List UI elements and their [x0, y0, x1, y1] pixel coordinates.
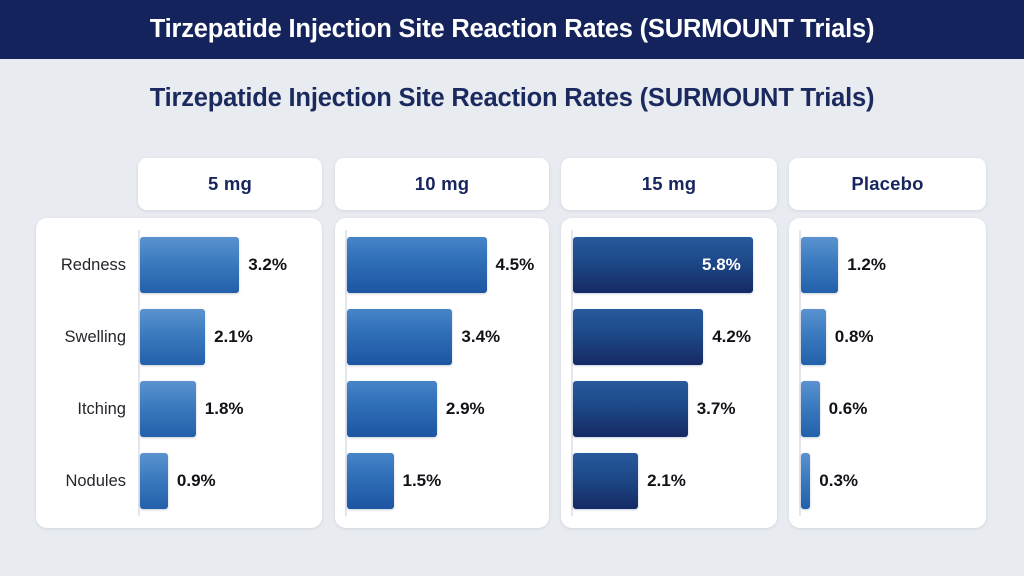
- category-label-redness: Redness: [61, 237, 126, 293]
- page-title: Tirzepatide Injection Site Reaction Rate…: [0, 84, 1024, 113]
- bar-value-0-2: 1.8%: [205, 399, 244, 419]
- column-header-label-3: Placebo: [851, 173, 923, 195]
- bar-row: 0.3%: [801, 453, 986, 509]
- bar-0-2: [140, 381, 196, 437]
- bar-row: 0.6%: [801, 381, 986, 437]
- chart-panel-1: 4.5% 3.4% 2.9% 1.5%: [335, 218, 549, 528]
- bar-row: 3.4%: [347, 309, 549, 365]
- chart-panel-0: Redness Swelling Itching Nodules 3.2% 2.…: [36, 218, 322, 528]
- bar-1-1: [347, 309, 452, 365]
- bar-value-2-0: 5.8%: [702, 255, 741, 275]
- banner-title: Tirzepatide Injection Site Reaction Rate…: [150, 15, 875, 44]
- bar-value-1-2: 2.9%: [446, 399, 485, 419]
- column-header-card-0: 5 mg: [138, 158, 322, 210]
- bar-value-3-3: 0.3%: [819, 471, 858, 491]
- bar-row: 1.5%: [347, 453, 549, 509]
- category-label-itching: Itching: [77, 381, 126, 437]
- bar-row: 1.8%: [140, 381, 322, 437]
- bar-row: 2.1%: [573, 453, 777, 509]
- chart-panel-2: 5.8% 4.2% 3.7% 2.1%: [561, 218, 777, 528]
- top-banner: Tirzepatide Injection Site Reaction Rate…: [0, 0, 1024, 59]
- bar-value-3-2: 0.6%: [829, 399, 868, 419]
- bar-3-3: [801, 453, 810, 509]
- bar-value-1-3: 1.5%: [403, 471, 442, 491]
- bar-row: 5.8%: [573, 237, 777, 293]
- bar-row: 3.7%: [573, 381, 777, 437]
- plot-area-1: 4.5% 3.4% 2.9% 1.5%: [347, 218, 549, 528]
- column-header-card-2: 15 mg: [561, 158, 777, 210]
- bar-3-0: [801, 237, 838, 293]
- bar-value-2-3: 2.1%: [647, 471, 686, 491]
- bar-value-2-1: 4.2%: [712, 327, 751, 347]
- bar-2-2: [573, 381, 688, 437]
- bar-row: 4.2%: [573, 309, 777, 365]
- column-header-row: 5 mg 10 mg 15 mg Placebo: [0, 158, 1024, 210]
- bar-value-1-1: 3.4%: [461, 327, 500, 347]
- bar-2-1: [573, 309, 703, 365]
- bar-value-0-0: 3.2%: [248, 255, 287, 275]
- bar-2-0: 5.8%: [573, 237, 753, 293]
- column-header-label-1: 10 mg: [415, 173, 469, 195]
- bar-row: 2.9%: [347, 381, 549, 437]
- bar-value-2-2: 3.7%: [697, 399, 736, 419]
- bar-value-0-3: 0.9%: [177, 471, 216, 491]
- bar-row: 1.2%: [801, 237, 986, 293]
- plot-area-2: 5.8% 4.2% 3.7% 2.1%: [573, 218, 777, 528]
- bar-2-3: [573, 453, 638, 509]
- chart-panel-3: 1.2% 0.8% 0.6% 0.3%: [789, 218, 986, 528]
- bar-row: 3.2%: [140, 237, 322, 293]
- bar-1-0: [347, 237, 487, 293]
- bar-0-0: [140, 237, 239, 293]
- bar-value-0-1: 2.1%: [214, 327, 253, 347]
- category-label-column: Redness Swelling Itching Nodules: [36, 218, 138, 528]
- bar-row: 2.1%: [140, 309, 322, 365]
- bar-1-2: [347, 381, 437, 437]
- bar-value-3-1: 0.8%: [835, 327, 874, 347]
- plot-area-0: 3.2% 2.1% 1.8% 0.9%: [140, 218, 322, 528]
- bar-3-2: [801, 381, 820, 437]
- column-header-card-3: Placebo: [789, 158, 986, 210]
- category-label-nodules: Nodules: [65, 453, 126, 509]
- plot-area-3: 1.2% 0.8% 0.6% 0.3%: [801, 218, 986, 528]
- bar-1-3: [347, 453, 394, 509]
- bar-3-1: [801, 309, 826, 365]
- column-header-card-1: 10 mg: [335, 158, 549, 210]
- column-header-label-2: 15 mg: [642, 173, 696, 195]
- bar-row: 0.9%: [140, 453, 322, 509]
- bar-0-1: [140, 309, 205, 365]
- bar-row: 4.5%: [347, 237, 549, 293]
- bar-row: 0.8%: [801, 309, 986, 365]
- bar-0-3: [140, 453, 168, 509]
- chart-page: Tirzepatide Injection Site Reaction Rate…: [0, 0, 1024, 576]
- column-header-label-0: 5 mg: [208, 173, 252, 195]
- bar-value-3-0: 1.2%: [847, 255, 886, 275]
- category-label-swelling: Swelling: [65, 309, 126, 365]
- bar-value-1-0: 4.5%: [496, 255, 535, 275]
